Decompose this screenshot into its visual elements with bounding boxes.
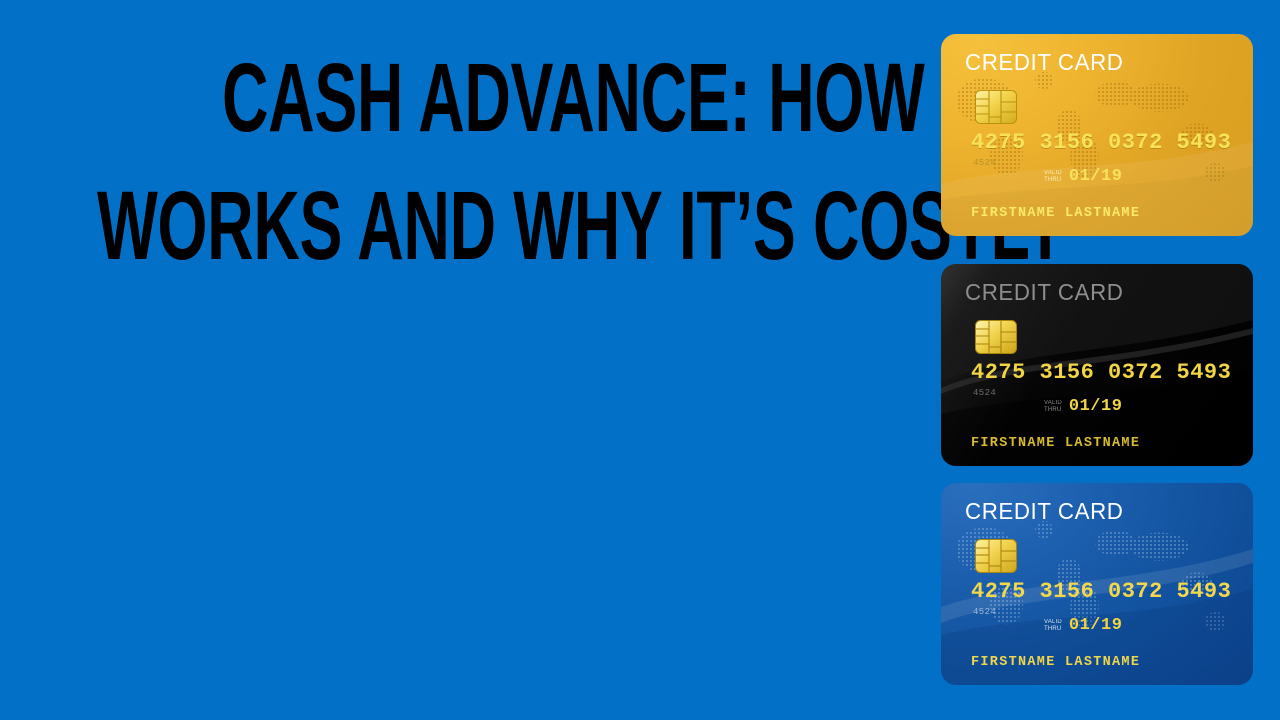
cardholder-name: FIRSTNAME LASTNAME (971, 436, 1140, 451)
card-content-gold: CREDIT CARD (941, 34, 1253, 236)
valid-thru-line-1: VALID (1044, 170, 1062, 177)
card-number: 4275 3156 0372 5493 (971, 360, 1231, 385)
card-brand-label: CREDIT CARD (965, 51, 1228, 74)
cardholder-name: FIRSTNAME LASTNAME (971, 655, 1140, 670)
card-number-sub: 4524 (973, 607, 996, 617)
card-brand-label: CREDIT CARD (965, 281, 1228, 304)
card-expiry-date: 01/19 (1069, 616, 1123, 635)
card-content-blue: CREDIT CARD (941, 483, 1253, 685)
card-content-black: CREDIT CARD (941, 264, 1253, 466)
card-expiry-date: 01/19 (1069, 397, 1123, 416)
emv-chip-icon (975, 539, 1017, 573)
card-number: 4275 3156 0372 5493 (971, 130, 1231, 155)
card-expiry-date: 01/19 (1069, 167, 1123, 186)
card-expiry-group: VALID THRU 01/19 (1044, 616, 1122, 635)
valid-thru-line-2: THRU (1044, 407, 1062, 414)
card-number: 4275 3156 0372 5493 (971, 579, 1231, 604)
valid-thru-label: VALID THRU (1044, 619, 1062, 633)
credit-card-gold: CREDIT CARD (941, 34, 1253, 236)
card-number-sub: 4524 (973, 158, 996, 168)
credit-card-blue: CREDIT CARD (941, 483, 1253, 685)
emv-chip-icon (975, 90, 1017, 124)
valid-thru-line-1: VALID (1044, 400, 1062, 407)
valid-thru-label: VALID THRU (1044, 170, 1062, 184)
card-brand-label: CREDIT CARD (965, 500, 1228, 523)
card-expiry-group: VALID THRU 01/19 (1044, 397, 1122, 416)
slide-canvas: Cash Advance: How It Works and Why It’s … (0, 0, 1280, 720)
title-line-1: Cash Advance: How It (222, 30, 998, 166)
valid-thru-line-1: VALID (1044, 619, 1062, 626)
valid-thru-line-2: THRU (1044, 626, 1062, 633)
cardholder-name: FIRSTNAME LASTNAME (971, 206, 1140, 221)
title-line-2: Works and Why It’s Costly (97, 158, 1066, 294)
valid-thru-label: VALID THRU (1044, 400, 1062, 414)
card-number-sub: 4524 (973, 388, 996, 398)
card-expiry-group: VALID THRU 01/19 (1044, 167, 1122, 186)
emv-chip-icon (975, 320, 1017, 354)
credit-card-black: CREDIT CARD (941, 264, 1253, 466)
page-title: Cash Advance: How It Works and Why It’s … (0, 0, 910, 720)
valid-thru-line-2: THRU (1044, 177, 1062, 184)
